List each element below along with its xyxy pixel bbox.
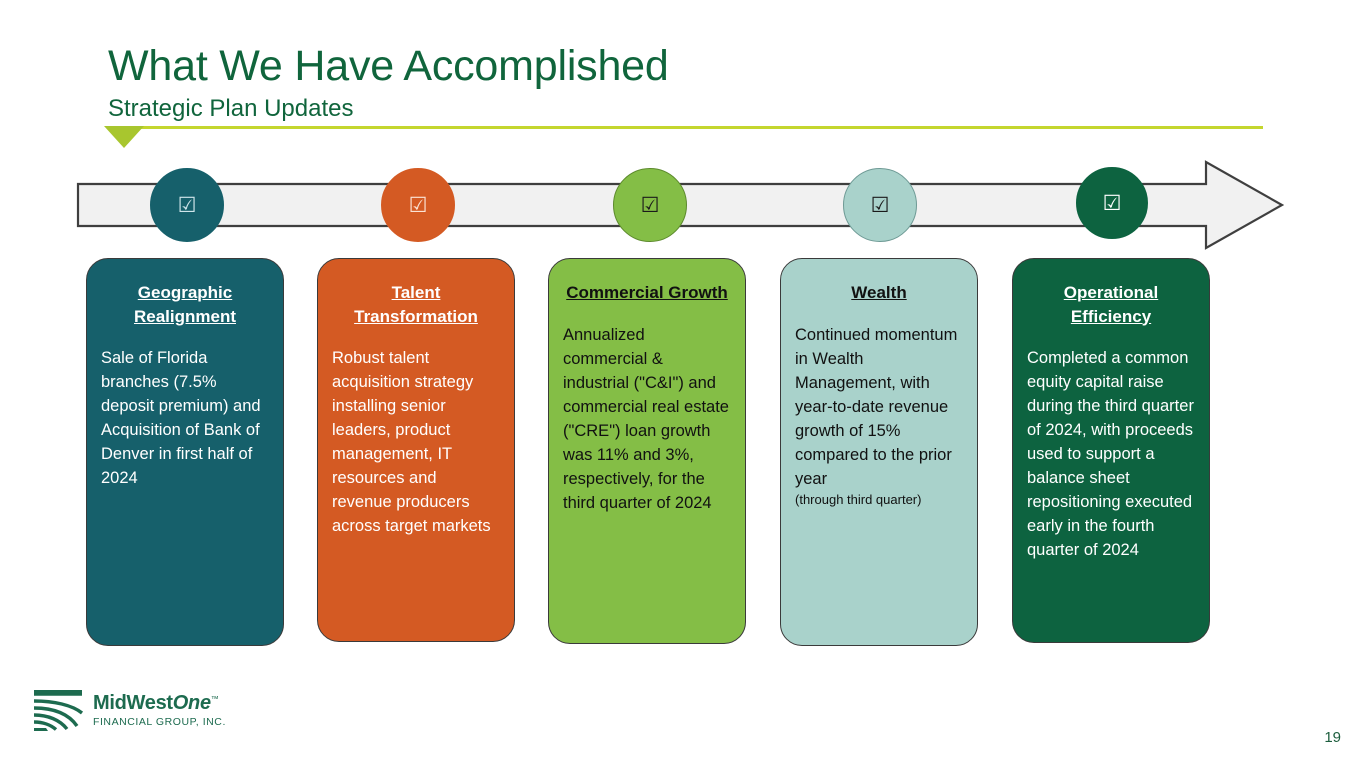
card-geographic-realignment: Geographic RealignmentSale of Florida br… xyxy=(86,258,284,646)
checkbox-checked-icon: ☑ xyxy=(409,195,428,216)
checkbox-checked-icon: ☑ xyxy=(1103,193,1122,214)
timeline-node-2: ☑ xyxy=(381,168,455,242)
card-footnote: (through third quarter) xyxy=(795,491,963,509)
timeline-node-5: ☑ xyxy=(1076,167,1148,239)
logo-wordmark: MidWestOne™ xyxy=(93,693,226,713)
card-title: Talent Transformation xyxy=(332,281,500,328)
card-title: Operational Efficiency xyxy=(1027,281,1195,328)
title-divider-rule xyxy=(108,126,1263,129)
logo-trademark-symbol: ™ xyxy=(211,694,219,703)
card-wealth: WealthContinued momentum in Wealth Manag… xyxy=(780,258,978,646)
page-subtitle: Strategic Plan Updates xyxy=(108,94,1268,124)
card-body-text: Sale of Florida branches (7.5% deposit p… xyxy=(101,346,269,490)
midwestone-logo-mark-icon xyxy=(32,688,84,732)
logo-wordmark-part-a: MidWest xyxy=(93,692,173,714)
checkbox-checked-icon: ☑ xyxy=(641,195,660,216)
card-title: Commercial Growth xyxy=(563,281,731,305)
card-operational-efficiency: Operational EfficiencyCompleted a common… xyxy=(1012,258,1210,643)
title-triangle-marker-icon xyxy=(104,126,144,148)
accomplishment-card-row: Geographic RealignmentSale of Florida br… xyxy=(86,258,1210,646)
page-number: 19 xyxy=(1324,729,1341,746)
checkbox-checked-icon: ☑ xyxy=(178,195,197,216)
slide-header: What We Have Accomplished Strategic Plan… xyxy=(108,40,1268,124)
milestone-timeline: ☑☑☑☑☑ xyxy=(76,160,1284,250)
timeline-node-1: ☑ xyxy=(150,168,224,242)
logo-wordmark-part-b: One xyxy=(173,692,211,714)
card-body-text: Annualized commercial & industrial ("C&I… xyxy=(563,323,731,515)
timeline-node-4: ☑ xyxy=(843,168,917,242)
page-title: What We Have Accomplished xyxy=(108,40,1268,92)
timeline-node-3: ☑ xyxy=(613,168,687,242)
card-body-text: Robust talent acquisition strategy insta… xyxy=(332,346,500,538)
card-body-text: Continued momentum in Wealth Management,… xyxy=(795,323,963,491)
card-commercial-growth: Commercial GrowthAnnualized commercial &… xyxy=(548,258,746,644)
logo-tagline: FINANCIAL GROUP, INC. xyxy=(93,717,226,728)
card-title: Wealth xyxy=(795,281,963,305)
logo-text-block: MidWestOne™ FINANCIAL GROUP, INC. xyxy=(93,693,226,728)
checkbox-checked-icon: ☑ xyxy=(871,195,890,216)
card-title: Geographic Realignment xyxy=(101,281,269,328)
company-logo: MidWestOne™ FINANCIAL GROUP, INC. xyxy=(32,686,262,734)
card-body-text: Completed a common equity capital raise … xyxy=(1027,346,1195,562)
card-talent-transformation: Talent TransformationRobust talent acqui… xyxy=(317,258,515,642)
